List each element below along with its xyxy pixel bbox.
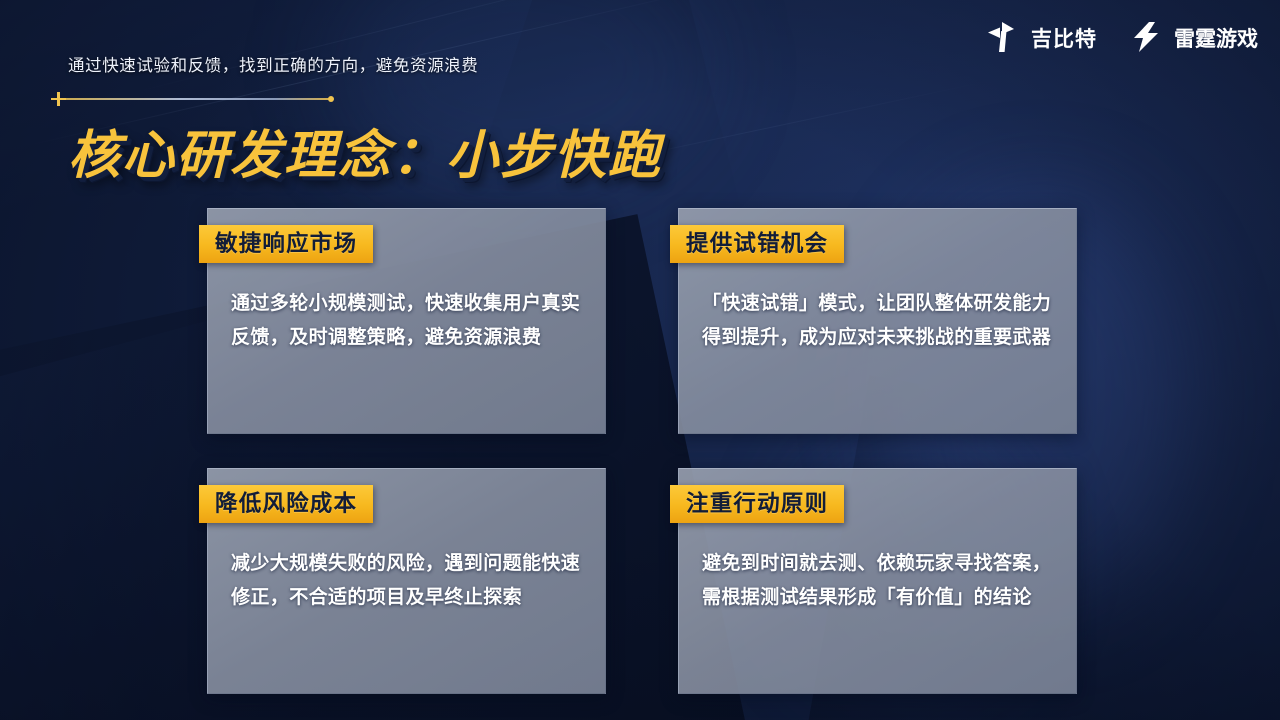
divider-ornament (46, 92, 346, 106)
gbits-mark-icon (988, 22, 1022, 57)
card-tag-label: 注重行动原则 (670, 485, 844, 523)
slide-subtitle: 通过快速试验和反馈，找到正确的方向，避免资源浪费 (68, 52, 478, 76)
content-card: 注重行动原则 避免到时间就去测、依赖玩家寻找答案，需根据测试结果形成「有价值」的… (678, 468, 1077, 694)
cards-grid: 敏捷响应市场 通过多轮小规模测试，快速收集用户真实反馈，及时调整策略，避免资源浪… (207, 208, 1077, 694)
gbits-logo: 吉比特 (988, 22, 1097, 57)
card-body-text: 减少大规模失败的风险，遇到问题能快速修正，不合适的项目及早终止探索 (231, 547, 585, 615)
logo-bar: 吉比特 雷霆游戏 (988, 22, 1258, 57)
card-body-text: 通过多轮小规模测试，快速收集用户真实反馈，及时调整策略，避免资源浪费 (231, 287, 585, 355)
thunder-logo: 雷霆游戏 (1131, 22, 1258, 57)
divider-line (58, 98, 330, 100)
gbits-logo-text: 吉比特 (1031, 29, 1097, 50)
card-body-text: 「快速试错」模式，让团队整体研发能力得到提升，成为应对未来挑战的重要武器 (702, 287, 1056, 355)
slide-root: 吉比特 雷霆游戏 通过快速试验和反馈，找到正确的方向，避免资源浪费 核心研发理念… (0, 0, 1280, 720)
content-card: 敏捷响应市场 通过多轮小规模测试，快速收集用户真实反馈，及时调整策略，避免资源浪… (207, 208, 606, 434)
content-card: 降低风险成本 减少大规模失败的风险，遇到问题能快速修正，不合适的项目及早终止探索 (207, 468, 606, 694)
card-tag-label: 降低风险成本 (199, 485, 373, 523)
card-tag-label: 敏捷响应市场 (199, 225, 373, 263)
lightning-bolt-icon (1131, 22, 1165, 57)
plus-marker-icon (51, 98, 66, 101)
content-card: 提供试错机会 「快速试错」模式，让团队整体研发能力得到提升，成为应对未来挑战的重… (678, 208, 1077, 434)
divider-end-dot-icon (328, 96, 334, 102)
thunder-logo-text: 雷霆游戏 (1174, 29, 1258, 50)
card-tag-label: 提供试错机会 (670, 225, 844, 263)
slide-title: 核心研发理念：小步快跑 (68, 113, 662, 188)
card-body-text: 避免到时间就去测、依赖玩家寻找答案，需根据测试结果形成「有价值」的结论 (702, 547, 1056, 615)
